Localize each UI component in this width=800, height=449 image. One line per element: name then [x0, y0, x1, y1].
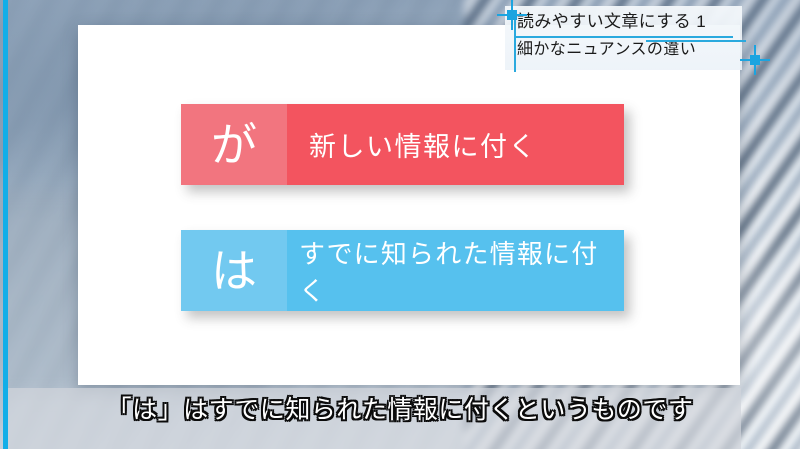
title-line-secondary: 細かなニュアンスの違い: [517, 39, 696, 61]
crosshair-marker-top-left: [497, 0, 527, 30]
particle-row-wa: は すでに知られた情報に付く: [181, 230, 624, 311]
subtitle-caption: 「は」はすでに知られた情報に付くというものです: [0, 388, 800, 428]
crosshair-marker-bottom-right: [740, 45, 770, 75]
video-frame: 読みやすい文章にする 1 細かなニュアンスの違い が 新しい情報に付く は すで…: [0, 0, 800, 449]
particle-row-ga: が 新しい情報に付く: [181, 104, 624, 185]
particle-description-ga: 新しい情報に付く: [287, 104, 624, 185]
particle-description-wa: すでに知られた情報に付く: [287, 230, 624, 311]
particle-key-ga: が: [181, 104, 287, 185]
title-plate: 読みやすい文章にする 1 細かなニュアンスの違い: [505, 6, 742, 70]
left-accent-stripe: [3, 0, 8, 449]
slide-card: [78, 25, 740, 385]
title-bottom-rule: [646, 40, 746, 42]
title-divider-rule: [515, 36, 733, 38]
particle-key-wa: は: [181, 230, 287, 311]
title-line-primary: 読みやすい文章にする 1: [517, 11, 706, 33]
